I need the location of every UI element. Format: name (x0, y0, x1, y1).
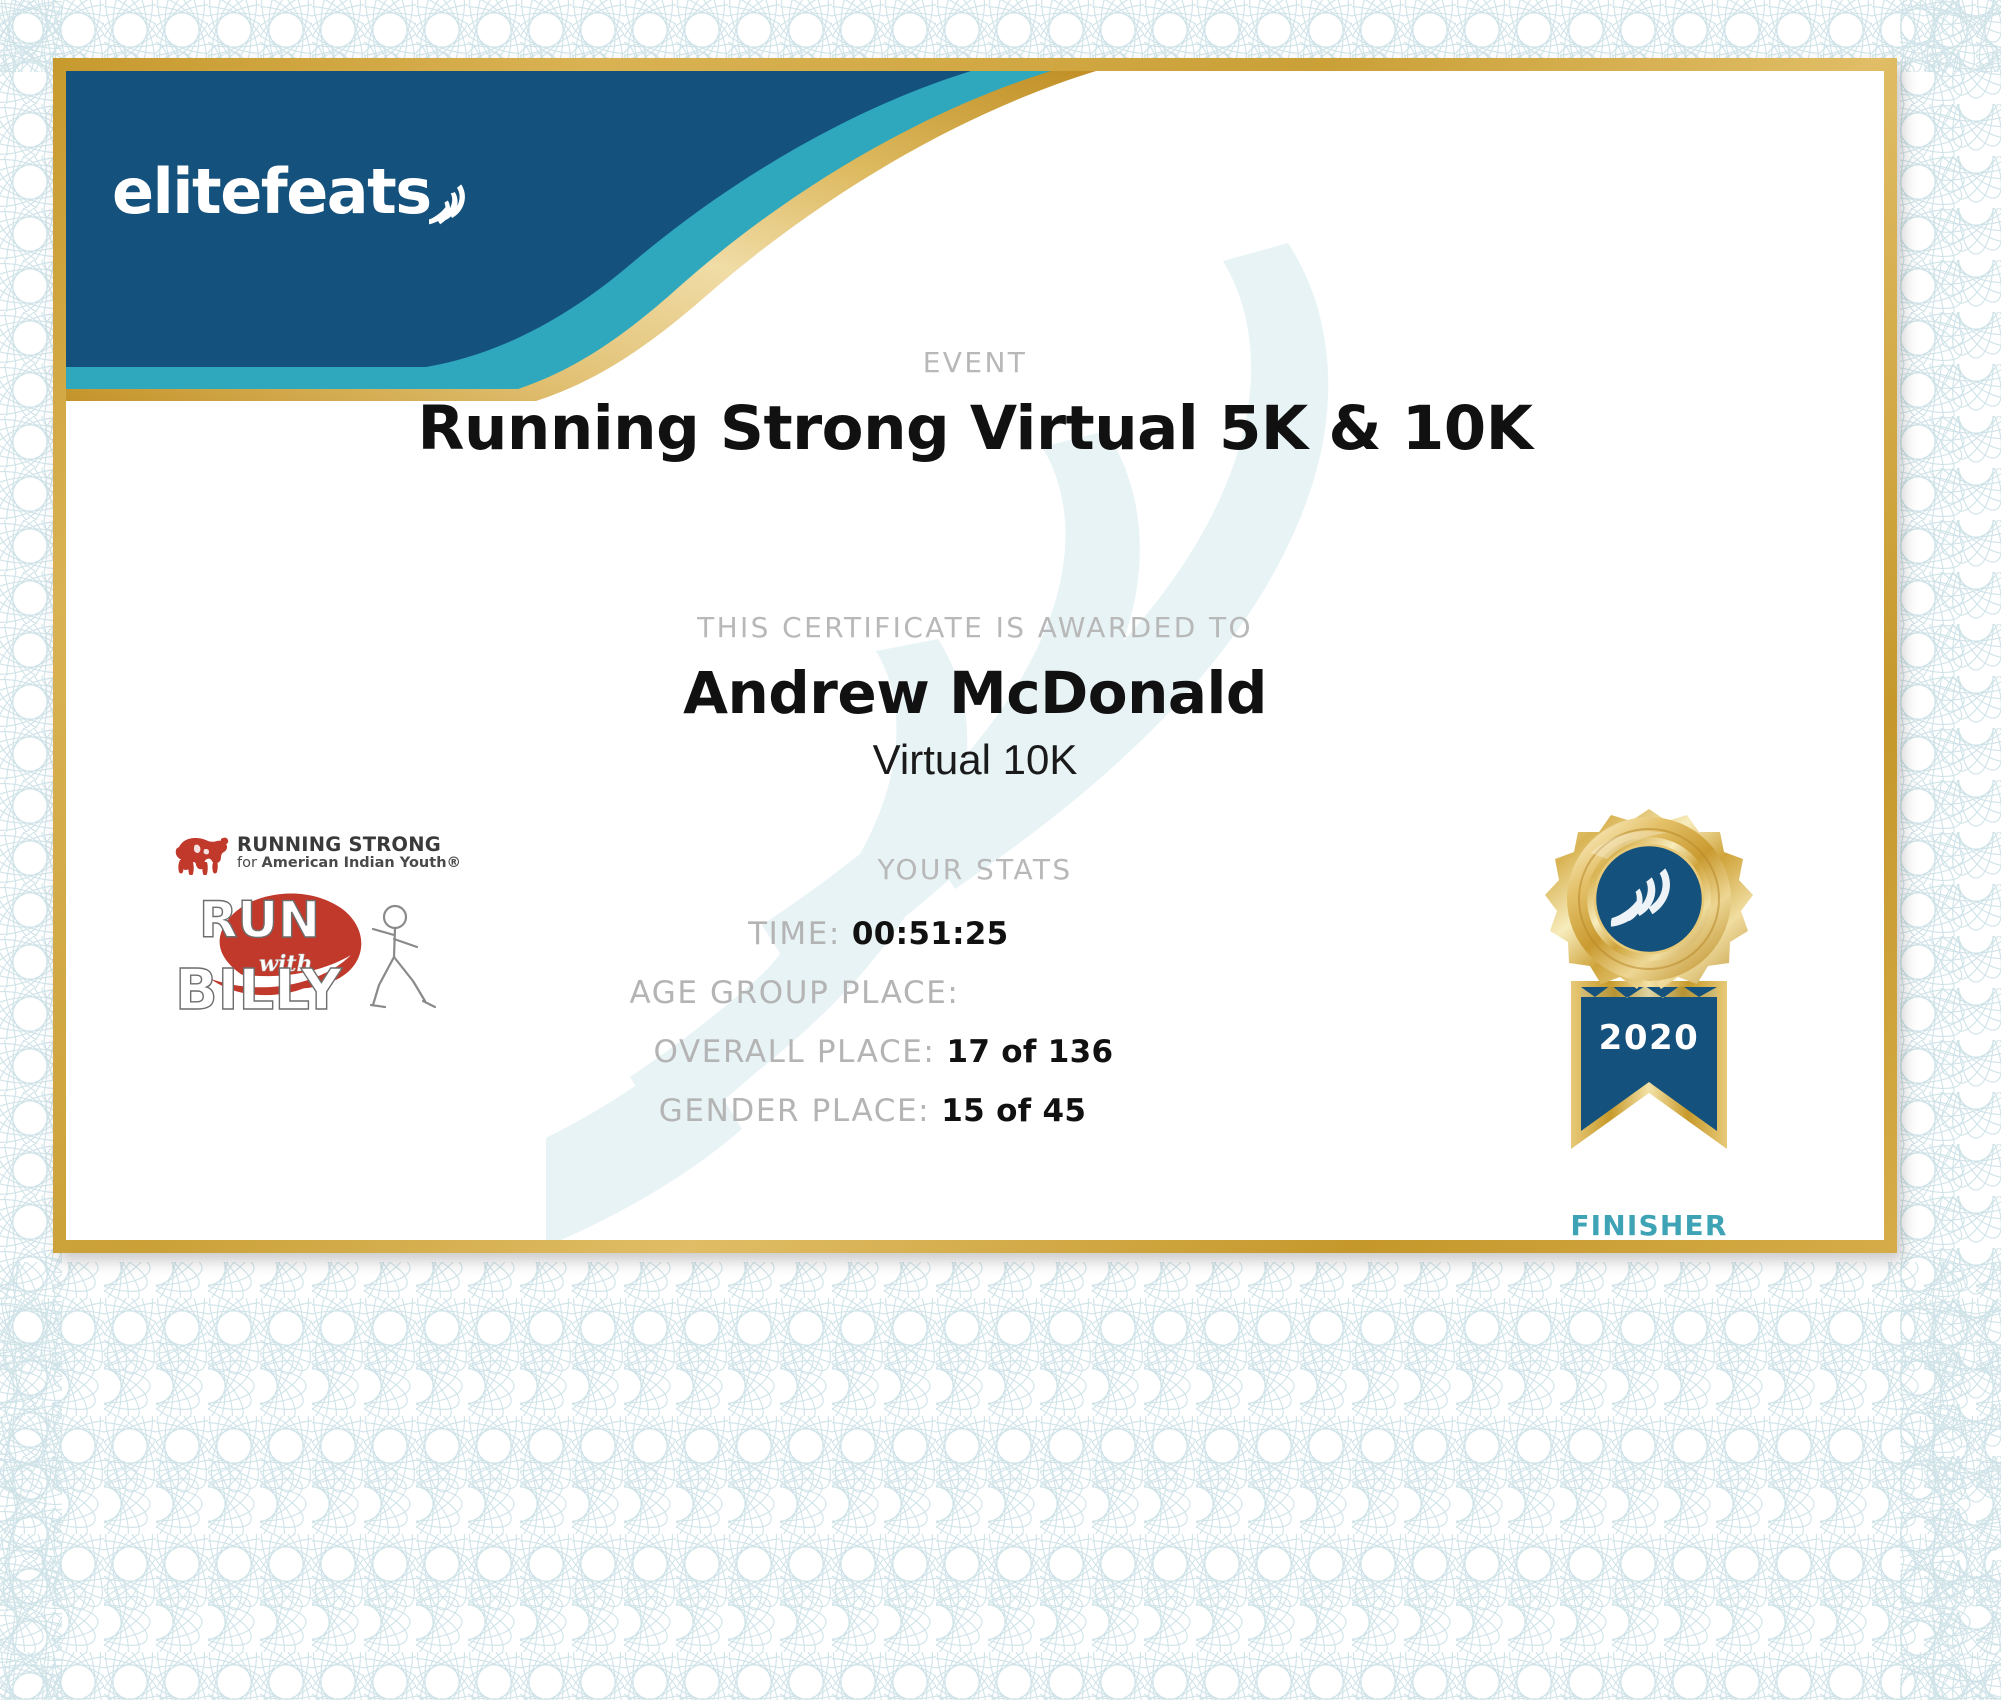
stat-value: 15 of 45 (941, 1093, 1131, 1129)
elitefeats-wordmark: elitefeats (112, 161, 431, 223)
registered-mark: ® (447, 855, 462, 871)
winged-foot-icon (429, 173, 472, 235)
certificate-body: elitefeats EVENT Running Strong Virtual … (66, 71, 1884, 1240)
stat-key: OVERALL PLACE: (654, 1034, 936, 1070)
finisher-caption-line1: FINISHER (1484, 1210, 1814, 1240)
stat-key: GENDER PLACE: (659, 1093, 930, 1129)
division-name: Virtual 10K (66, 736, 1884, 784)
stat-key: AGE GROUP PLACE: (630, 975, 960, 1011)
event-title: Running Strong Virtual 5K & 10K (66, 393, 1884, 464)
subtitle-main: American Indian Youth (262, 855, 447, 871)
stat-value: 17 of 136 (946, 1034, 1136, 1070)
finisher-certificate-caption: FINISHER CERTIFICATE (1484, 1210, 1814, 1240)
certificate-page: elitefeats EVENT Running Strong Virtual … (0, 0, 2001, 1700)
subtitle-prefix: for (237, 855, 262, 871)
gold-certificate-frame: elitefeats EVENT Running Strong Virtual … (53, 58, 1897, 1253)
finisher-medal: 2020 (1484, 801, 1814, 1240)
stat-key: TIME: (748, 916, 841, 952)
running-strong-logo: RUNNING STRONG for American Indian Youth… (171, 831, 481, 875)
recipient-name: Andrew McDonald (66, 659, 1884, 727)
running-strong-title: RUNNING STRONG (237, 835, 461, 855)
medal-ribbon: 2020 (1571, 981, 1727, 1149)
billy-run-text: RUN (199, 891, 320, 949)
running-strong-subtitle: for American Indian Youth® (237, 856, 461, 871)
medal-graphic: 2020 (1499, 801, 1799, 1201)
stat-value: 00:51:25 (852, 916, 1042, 952)
sponsor-logos: RUNNING STRONG for American Indian Youth… (171, 831, 481, 1025)
run-with-billy-logo: RUN with BILLY (163, 885, 463, 1020)
buffalo-icon (171, 831, 229, 875)
billy-billy-text: BILLY (175, 958, 343, 1020)
event-label: EVENT (66, 346, 1884, 379)
awarded-to-label: THIS CERTIFICATE IS AWARDED TO (66, 611, 1884, 644)
medal-year: 2020 (1599, 1018, 1700, 1058)
running-strong-text: RUNNING STRONG for American Indian Youth… (237, 835, 461, 871)
elitefeats-logo: elitefeats (112, 133, 472, 223)
runner-silhouette-icon (371, 906, 435, 1007)
